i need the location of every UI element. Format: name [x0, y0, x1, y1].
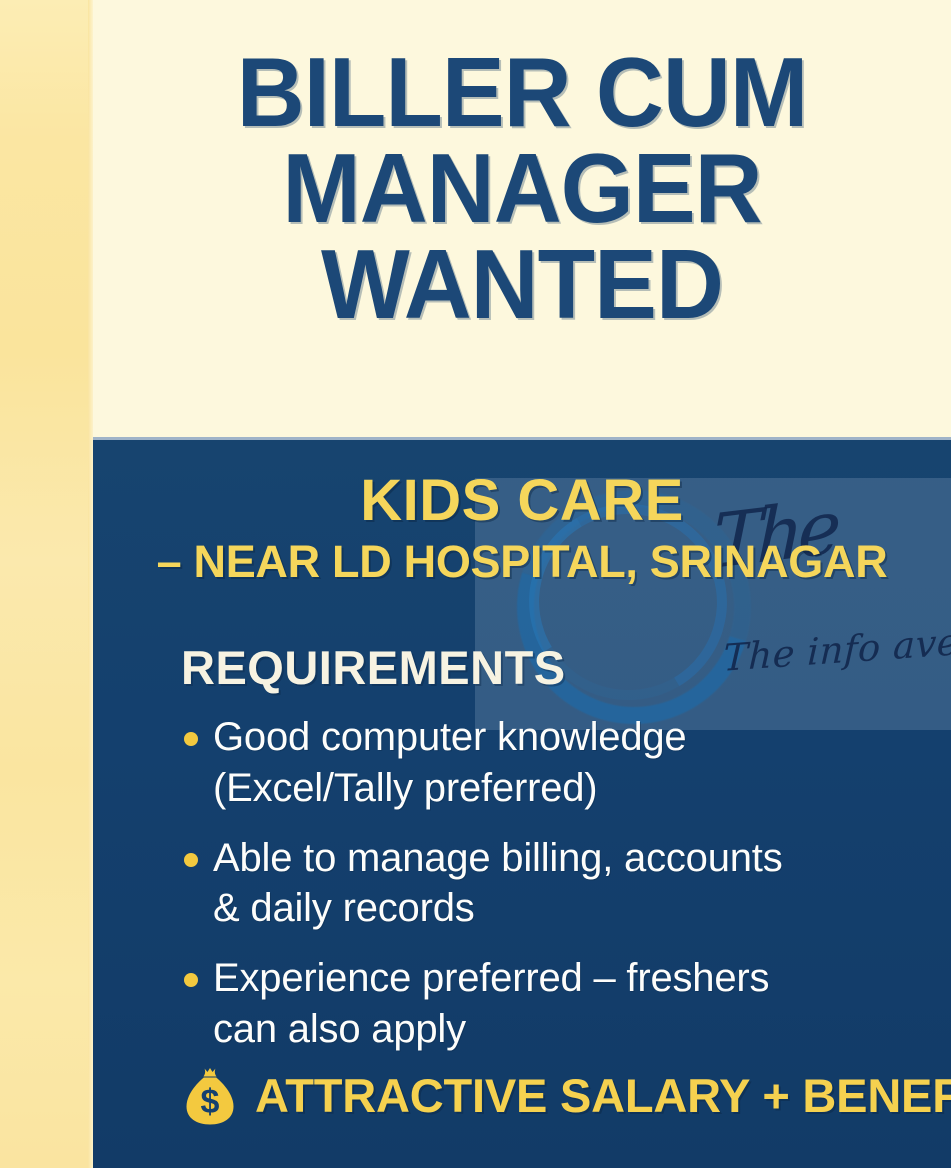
job-advertisement-poster: BILLER CUM MANAGER WANTED The The info a… [0, 0, 951, 1168]
headline-line-3: WANTED [110, 236, 934, 332]
requirement-text: Able to manage billing, accounts & daily… [213, 833, 951, 935]
headline-line-2: MANAGER [110, 140, 934, 236]
salary-row: $ ATTRACTIVE SALARY + BENEFITS [183, 1064, 951, 1126]
requirements-list: Good computer knowledge (Excel/Tally pre… [175, 712, 951, 1074]
svg-text:$: $ [201, 1083, 220, 1121]
list-item: Experience preferred – freshers can also… [175, 953, 951, 1055]
requirement-text: Experience preferred – freshers can also… [213, 953, 951, 1055]
organization-block: KIDS CARE – NEAR LD HOSPITAL, SRINAGAR [93, 471, 951, 585]
salary-text: ATTRACTIVE SALARY + BENEFITS [255, 1068, 951, 1123]
organization-location: – NEAR LD HOSPITAL, SRINAGAR [93, 538, 951, 585]
money-bag-icon: $ [183, 1065, 237, 1127]
list-item: Able to manage billing, accounts & daily… [175, 833, 951, 935]
panel-content: KIDS CARE – NEAR LD HOSPITAL, SRINAGAR R… [93, 437, 951, 1168]
headline-line-1: BILLER CUM [110, 44, 934, 140]
requirement-text: Good computer knowledge (Excel/Tally pre… [213, 712, 951, 814]
bullet-dot-icon [184, 853, 198, 867]
bullet-dot-icon [184, 973, 198, 987]
organization-name: KIDS CARE [93, 471, 951, 532]
requirements-heading: REQUIREMENTS [181, 640, 566, 695]
left-yellow-accent-strip [0, 0, 93, 1168]
list-item: Good computer knowledge (Excel/Tally pre… [175, 712, 951, 814]
bullet-dot-icon [184, 732, 198, 746]
poster-headline: BILLER CUM MANAGER WANTED [110, 44, 934, 332]
